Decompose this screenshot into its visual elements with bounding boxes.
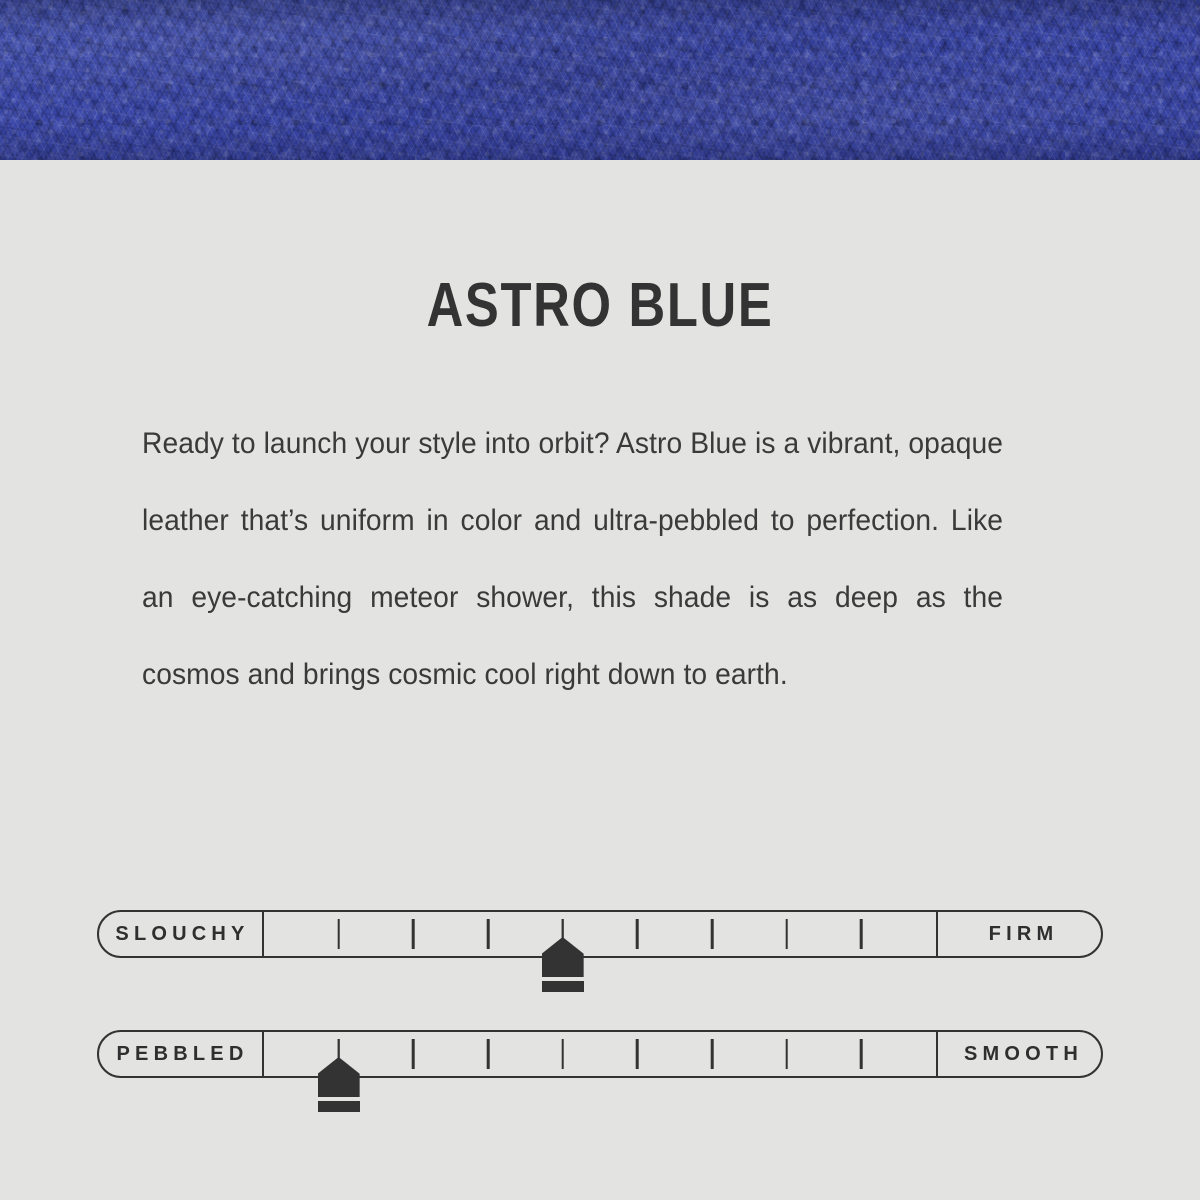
- scale-tick: [412, 919, 415, 949]
- scale-texture[interactable]: PEBBLED SMOOTH: [97, 1030, 1103, 1078]
- scale-right-label: SMOOTH: [936, 1030, 1103, 1078]
- marker-base-bar: [318, 1101, 360, 1112]
- marker-base-bar: [542, 981, 584, 992]
- scale-tick: [711, 1039, 714, 1069]
- scale-tick: [561, 1039, 564, 1069]
- scale-left-label: SLOUCHY: [97, 910, 264, 958]
- scale-tick: [337, 919, 340, 949]
- scale-tick: [412, 1039, 415, 1069]
- scale-tick: [337, 1039, 340, 1069]
- swatch-shading-overlay: [0, 0, 1200, 160]
- leather-swatch-image: [0, 0, 1200, 160]
- scale-tick: [561, 919, 564, 949]
- scale-tick: [860, 919, 863, 949]
- scale-tick: [636, 919, 639, 949]
- product-swatch-card: ASTRO BLUE Ready to launch your style in…: [0, 0, 1200, 1200]
- scale-left-label: PEBBLED: [97, 1030, 264, 1078]
- scale-track[interactable]: [264, 1030, 936, 1078]
- scale-tick: [785, 919, 788, 949]
- page-title: ASTRO BLUE: [108, 275, 1092, 337]
- scale-tick: [711, 919, 714, 949]
- product-description: Ready to launch your style into orbit? A…: [142, 405, 1003, 713]
- content-block: ASTRO BLUE Ready to launch your style in…: [0, 160, 1200, 713]
- scale-tick: [487, 1039, 490, 1069]
- scale-tick: [860, 1039, 863, 1069]
- scale-structure[interactable]: SLOUCHY FIRM: [97, 910, 1103, 958]
- scale-right-label: FIRM: [936, 910, 1103, 958]
- scale-tick: [785, 1039, 788, 1069]
- scale-tick: [487, 919, 490, 949]
- scale-tick: [636, 1039, 639, 1069]
- scale-track[interactable]: [264, 910, 936, 958]
